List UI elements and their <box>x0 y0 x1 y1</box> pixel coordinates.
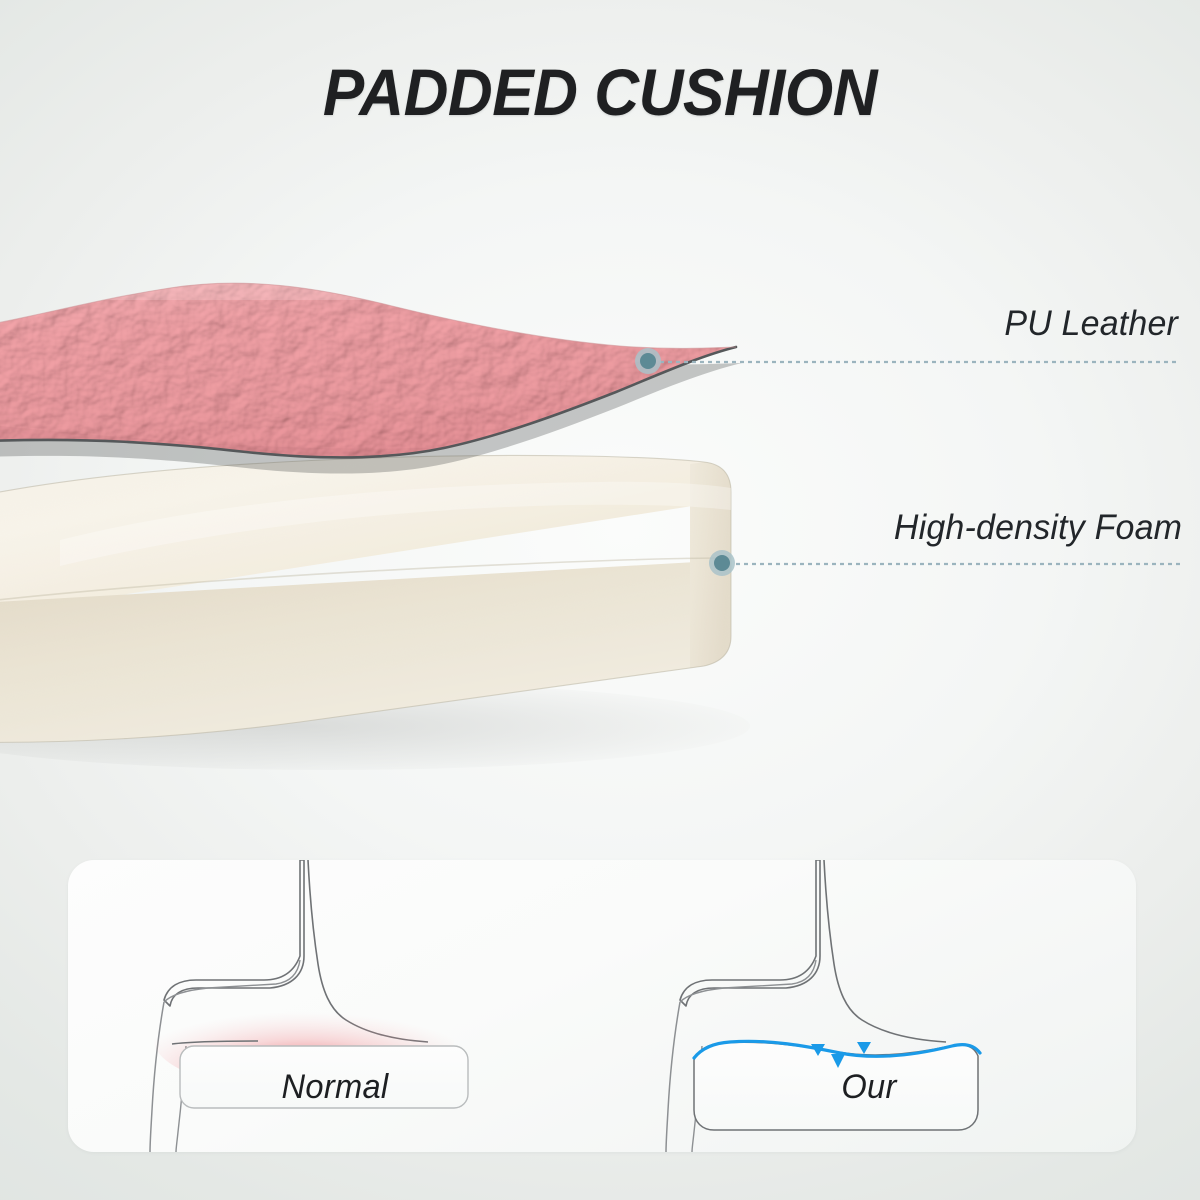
callout-leader-pu-leather <box>635 348 1180 374</box>
caption-our: Our <box>613 1068 1126 1107</box>
normal-pressure-diagram <box>68 860 602 1152</box>
our-cushion-diagram <box>602 860 1136 1152</box>
callout-leader-high-density-foam <box>709 550 1182 576</box>
marker-ring-pu-leather <box>635 348 661 374</box>
marker-ring-high-density-foam <box>709 550 735 576</box>
page-title: PADDED CUSHION <box>36 54 1164 130</box>
foam-block <box>0 440 760 760</box>
marker-dot-pu-leather <box>640 353 656 369</box>
infographic-canvas: PADDED CUSHION <box>0 0 1200 1200</box>
pu-leather-sheet <box>0 260 780 480</box>
marker-dot-high-density-foam <box>714 555 730 571</box>
caption-normal: Normal <box>79 1068 592 1107</box>
comparison-panel: Normal <box>68 860 1136 1152</box>
callout-label-pu-leather: PU Leather <box>1004 304 1178 344</box>
comparison-our <box>602 860 1136 1152</box>
comparison-normal <box>68 860 602 1152</box>
callout-label-high-density-foam: High-density Foam <box>894 508 1182 548</box>
